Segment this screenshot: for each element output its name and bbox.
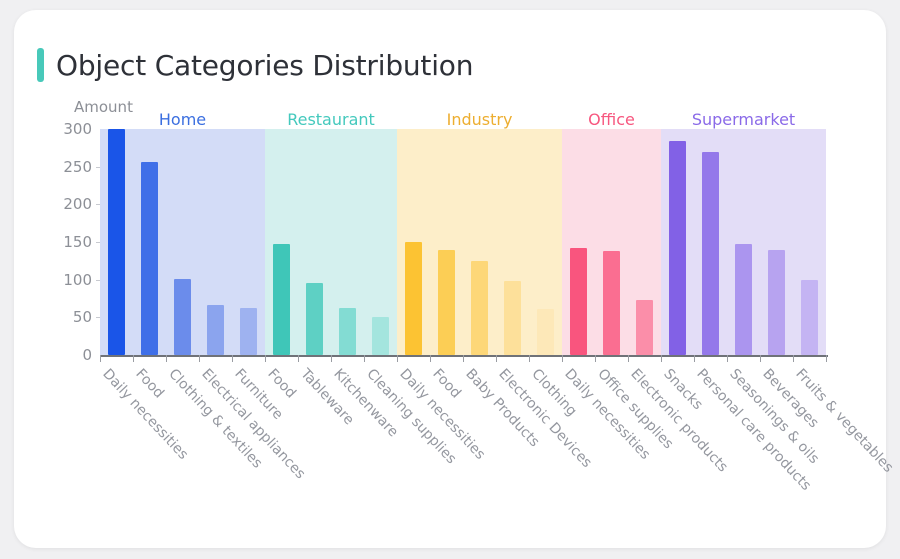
bar[interactable]	[372, 317, 389, 355]
bar[interactable]	[603, 251, 620, 355]
bar[interactable]	[801, 280, 818, 355]
x-tick-mark	[331, 355, 332, 362]
bar[interactable]	[735, 244, 752, 355]
x-tick-mark	[430, 355, 431, 362]
group-label-office: Office	[588, 110, 635, 129]
x-tick-mark	[826, 355, 827, 362]
bar[interactable]	[702, 152, 719, 355]
bar[interactable]	[570, 248, 587, 355]
y-tick-label: 0	[52, 346, 92, 364]
plot-area	[100, 129, 826, 355]
y-tick-label: 100	[52, 271, 92, 289]
bar[interactable]	[537, 309, 554, 355]
x-tick-mark	[397, 355, 398, 362]
group-label-supermarket: Supermarket	[692, 110, 795, 129]
x-axis-line	[100, 355, 828, 357]
y-axis-label: Amount	[74, 98, 133, 116]
bar[interactable]	[273, 244, 290, 355]
bar[interactable]	[438, 250, 455, 355]
x-tick-mark	[628, 355, 629, 362]
y-tick-label: 200	[52, 195, 92, 213]
bar[interactable]	[240, 308, 257, 355]
x-tick-mark	[232, 355, 233, 362]
x-tick-mark	[694, 355, 695, 362]
bar[interactable]	[306, 283, 323, 355]
y-tick-label: 50	[52, 308, 92, 326]
x-tick-mark	[199, 355, 200, 362]
bar[interactable]	[405, 242, 422, 355]
bar[interactable]	[174, 279, 191, 355]
bar-chart: Amount 050100150200250300 Daily necessit…	[14, 10, 886, 548]
x-tick-mark	[298, 355, 299, 362]
bar[interactable]	[108, 129, 125, 355]
group-label-industry: Industry	[447, 110, 513, 129]
bar[interactable]	[339, 308, 356, 355]
x-tick-mark	[364, 355, 365, 362]
x-tick-mark	[595, 355, 596, 362]
x-tick-mark	[661, 355, 662, 362]
x-tick-mark	[760, 355, 761, 362]
x-tick-mark	[463, 355, 464, 362]
x-tick-mark	[265, 355, 266, 362]
bar[interactable]	[504, 281, 521, 355]
x-tick-mark	[562, 355, 563, 362]
group-label-home: Home	[159, 110, 206, 129]
group-label-restaurant: Restaurant	[287, 110, 375, 129]
x-tick-mark	[496, 355, 497, 362]
y-tick-label: 300	[52, 120, 92, 138]
bar[interactable]	[471, 261, 488, 355]
y-tick-label: 250	[52, 158, 92, 176]
bar[interactable]	[768, 250, 785, 355]
x-tick-mark	[727, 355, 728, 362]
bar[interactable]	[207, 305, 224, 355]
bar[interactable]	[669, 141, 686, 355]
chart-card: Object Categories Distribution Amount 05…	[14, 10, 886, 548]
x-tick-mark	[793, 355, 794, 362]
bar[interactable]	[141, 162, 158, 355]
x-tick-mark	[529, 355, 530, 362]
bar[interactable]	[636, 300, 653, 355]
x-tick-mark	[133, 355, 134, 362]
x-tick-mark	[166, 355, 167, 362]
x-tick-mark	[100, 355, 101, 362]
y-tick-label: 150	[52, 233, 92, 251]
